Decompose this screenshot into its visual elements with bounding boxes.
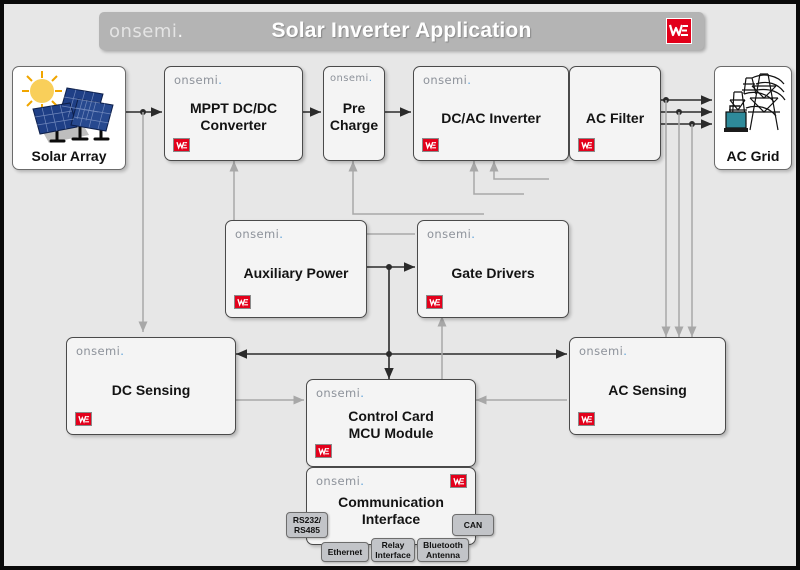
connector-can[interactable]: CAN [452,514,494,536]
we-badge-icon [173,138,190,152]
solar-array-label: Solar Array [13,148,125,164]
onsemi-label: onsemi. [423,73,471,87]
block-dcac-inverter[interactable]: onsemi. DC/AC Inverter [413,66,569,161]
onsemi-label: onsemi. [174,73,222,87]
connector-bluetooth-antenna[interactable]: BluetoothAntenna [417,538,469,562]
we-badge-icon [234,295,251,309]
block-communication-interface[interactable]: onsemi. Communication Interface [306,467,476,545]
onsemi-label: onsemi. [427,227,475,241]
block-title: MPPT DC/DC Converter [165,100,302,134]
ac-grid-label: AC Grid [715,148,791,164]
onsemi-label: onsemi. [579,344,627,358]
block-title: DC Sensing [67,382,235,399]
block-ac-grid[interactable]: AC Grid [714,66,792,170]
we-badge-icon [578,412,595,426]
onsemi-label: onsemi. [76,344,124,358]
block-title: AC Filter [570,110,660,127]
block-title: Pre Charge [324,100,384,134]
block-title: Auxiliary Power [226,265,366,282]
block-solar-array[interactable]: Solar Array [12,66,126,170]
block-ac-sensing[interactable]: onsemi. AC Sensing [569,337,726,435]
connector-ethernet[interactable]: Ethernet [321,542,369,562]
connector-relay-interface[interactable]: RelayInterface [371,538,415,562]
onsemi-label: onsemi. [235,227,283,241]
block-control-card-mcu[interactable]: onsemi. Control Card MCU Module [306,379,476,467]
we-badge-icon [422,138,439,152]
we-badge-icon [578,138,595,152]
block-ac-filter[interactable]: AC Filter [569,66,661,161]
we-badge-icon [426,295,443,309]
power-grid-icon [716,68,790,148]
connector-rs232-rs485[interactable]: RS232/RS485 [286,512,328,538]
block-gate-drivers[interactable]: onsemi. Gate Drivers [417,220,569,318]
block-title: Communication Interface [307,494,475,528]
block-dc-sensing[interactable]: onsemi. DC Sensing [66,337,236,435]
block-title: Control Card MCU Module [307,408,475,442]
block-title: DC/AC Inverter [414,110,568,127]
solar-panel-icon [15,69,125,151]
block-auxiliary-power[interactable]: onsemi. Auxiliary Power [225,220,367,318]
page-title: Solar Inverter Application [99,19,704,43]
block-mppt-dcdc-converter[interactable]: onsemi. MPPT DC/DC Converter [164,66,303,161]
block-title: AC Sensing [570,382,725,399]
we-badge-icon [450,474,467,488]
onsemi-label: onsemi. [316,386,364,400]
app-title-bar: onsemi. Solar Inverter Application [99,12,704,50]
onsemi-logo: onsemi. [109,21,184,42]
we-badge-icon [75,412,92,426]
we-badge-icon [315,444,332,458]
diagram-canvas: onsemi. Solar Inverter Application [0,0,800,570]
block-title: Gate Drivers [418,265,568,282]
onsemi-label: onsemi. [330,73,372,84]
block-pre-charge[interactable]: onsemi. Pre Charge [323,66,385,161]
onsemi-label: onsemi. [316,474,364,488]
we-logo-icon [666,18,692,44]
